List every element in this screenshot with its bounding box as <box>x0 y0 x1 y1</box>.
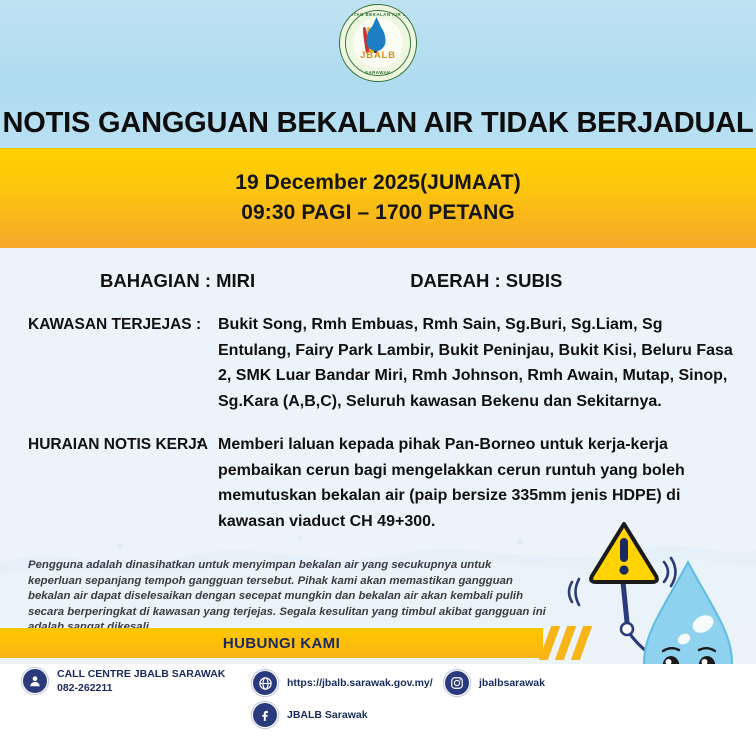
website-item[interactable]: https://jbalb.sarawak.gov.my/ <box>252 670 433 696</box>
water-disruption-notice-poster: JABATAN BEKALAN AIR LUAR BANDAR JBALB SA… <box>0 0 756 756</box>
globe-icon <box>252 670 278 696</box>
work-description-row: HURAIAN NOTIS KERJA : Memberi laluan kep… <box>0 432 756 534</box>
poster-header: JABATAN BEKALAN AIR LUAR BANDAR JBALB SA… <box>0 0 756 148</box>
logo-wordmark: JBALB <box>340 50 416 61</box>
disruption-time: 09:30 PAGI – 1700 PETANG <box>241 201 515 225</box>
affected-areas-value: Bukit Song, Rmh Embuas, Rmh Sain, Sg.Bur… <box>218 312 756 414</box>
facebook-icon <box>252 702 278 728</box>
website-text: https://jbalb.sarawak.gov.my/ <box>287 676 433 690</box>
logo-water-drop-icon <box>367 25 386 51</box>
jbalb-logo: JABATAN BEKALAN AIR LUAR BANDAR JBALB SA… <box>339 4 417 82</box>
instagram-handle: jbalbsarawak <box>479 676 545 690</box>
page-title: NOTIS GANGGUAN BEKALAN AIR TIDAK BERJADU… <box>0 107 756 140</box>
contact-bar: HUBUNGI KAMI <box>0 628 543 658</box>
instagram-icon <box>444 670 470 696</box>
call-centre-line1: CALL CENTRE JBALB SARAWAK <box>57 668 225 680</box>
work-description-colon: : <box>196 432 218 457</box>
affected-areas-row: KAWASAN TERJEJAS : Bukit Song, Rmh Embua… <box>0 312 756 414</box>
instagram-item[interactable]: jbalbsarawak <box>444 670 545 696</box>
call-centre-line2: 082-262211 <box>57 681 225 695</box>
poster-footer: CALL CENTRE JBALB SARAWAK 082-262211 htt… <box>0 664 756 756</box>
facebook-page-name: JBALB Sarawak <box>287 708 368 722</box>
work-description-label: HURAIAN NOTIS KERJA <box>0 432 196 457</box>
work-description-value: Memberi laluan kepada pihak Pan-Borneo u… <box>218 432 756 534</box>
bahagian-label: BAHAGIAN : MIRI <box>100 270 255 292</box>
warning-triangle-icon <box>591 524 657 582</box>
region-row: BAHAGIAN : MIRI DAERAH : SUBIS <box>0 266 756 292</box>
disruption-date: 19 December 2025(JUMAAT) <box>235 171 521 195</box>
contact-bar-title: HUBUNGI KAMI <box>203 635 340 652</box>
person-icon <box>22 668 48 694</box>
call-centre-text: CALL CENTRE JBALB SARAWAK 082-262211 <box>57 667 225 695</box>
affected-areas-colon: : <box>196 312 218 337</box>
logo-arc-bottom-text: SARAWAK <box>340 70 416 75</box>
facebook-item[interactable]: JBALB Sarawak <box>252 702 368 728</box>
affected-areas-label: KAWASAN TERJEJAS <box>0 312 196 337</box>
call-centre-item[interactable]: CALL CENTRE JBALB SARAWAK 082-262211 <box>22 667 225 695</box>
daerah-label: DAERAH : SUBIS <box>410 270 562 292</box>
date-time-banner: 19 December 2025(JUMAAT) 09:30 PAGI – 17… <box>0 148 756 248</box>
